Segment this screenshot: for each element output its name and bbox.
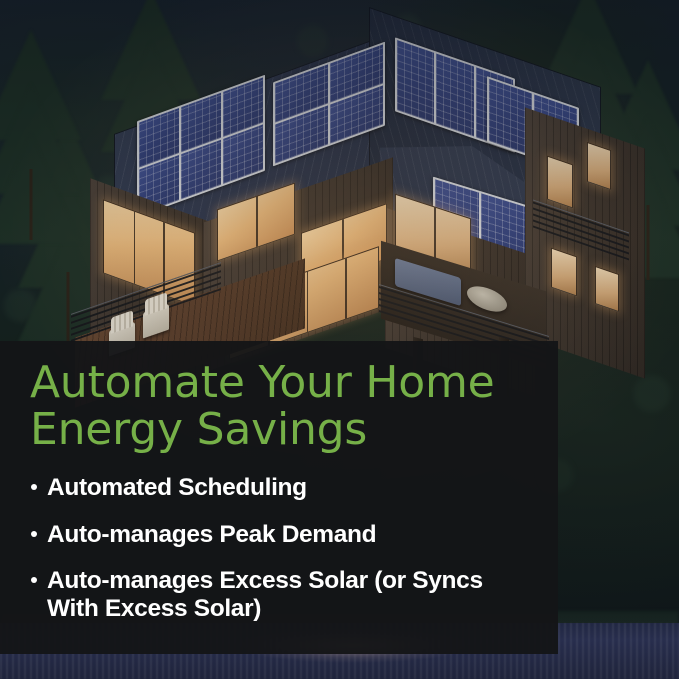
lit-window (547, 156, 573, 209)
lit-window (551, 248, 577, 297)
feature-list: Automated Scheduling Auto-manages Peak D… (30, 474, 532, 624)
list-item-label: Automated Scheduling (47, 474, 307, 501)
lit-window (595, 266, 619, 312)
bullet-dot-icon (31, 577, 37, 583)
list-item: Auto-manages Excess Solar (or Syncs With… (30, 567, 532, 624)
screenshot-canvas: Automate Your Home Energy Savings Automa… (0, 0, 679, 679)
list-item: Automated Scheduling (30, 474, 532, 502)
list-item-label: Auto-manages Excess Solar (or Syncs With… (47, 567, 483, 622)
bullet-dot-icon (31, 484, 37, 490)
page-title: Automate Your Home Energy Savings (30, 359, 532, 453)
list-item-label: Auto-manages Peak Demand (47, 521, 376, 548)
lit-window (587, 142, 611, 190)
cabin-house (95, 20, 615, 370)
conifer-tree (0, 30, 76, 240)
text-overlay-panel: Automate Your Home Energy Savings Automa… (0, 341, 558, 654)
list-item: Auto-manages Peak Demand (30, 521, 532, 549)
bullet-dot-icon (31, 531, 37, 537)
